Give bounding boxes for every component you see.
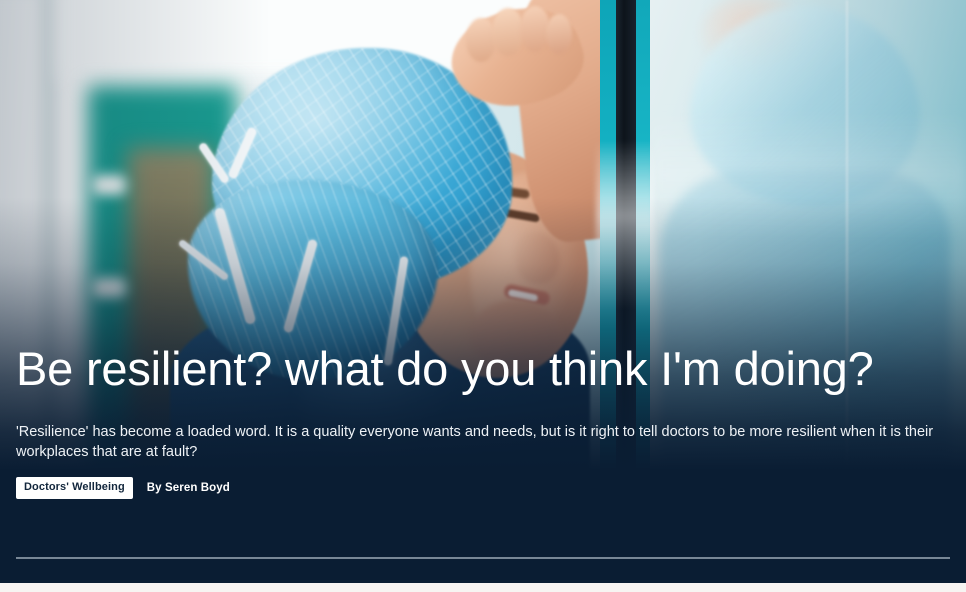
article-byline: By Seren Boyd xyxy=(147,482,230,494)
hero-banner: Be resilient? what do you think I'm doin… xyxy=(0,0,966,583)
hero-divider xyxy=(16,557,950,559)
category-tag-doctors-wellbeing[interactable]: Doctors' Wellbeing xyxy=(16,477,133,499)
page-body-background xyxy=(0,583,966,592)
page-title: Be resilient? what do you think I'm doin… xyxy=(16,338,876,399)
article-meta-row: Doctors' Wellbeing By Seren Boyd xyxy=(16,477,952,499)
article-hero-page: Be resilient? what do you think I'm doin… xyxy=(0,0,966,592)
article-standfirst: 'Resilience' has become a loaded word. I… xyxy=(16,423,950,462)
hero-text-block: Be resilient? what do you think I'm doin… xyxy=(16,338,952,499)
